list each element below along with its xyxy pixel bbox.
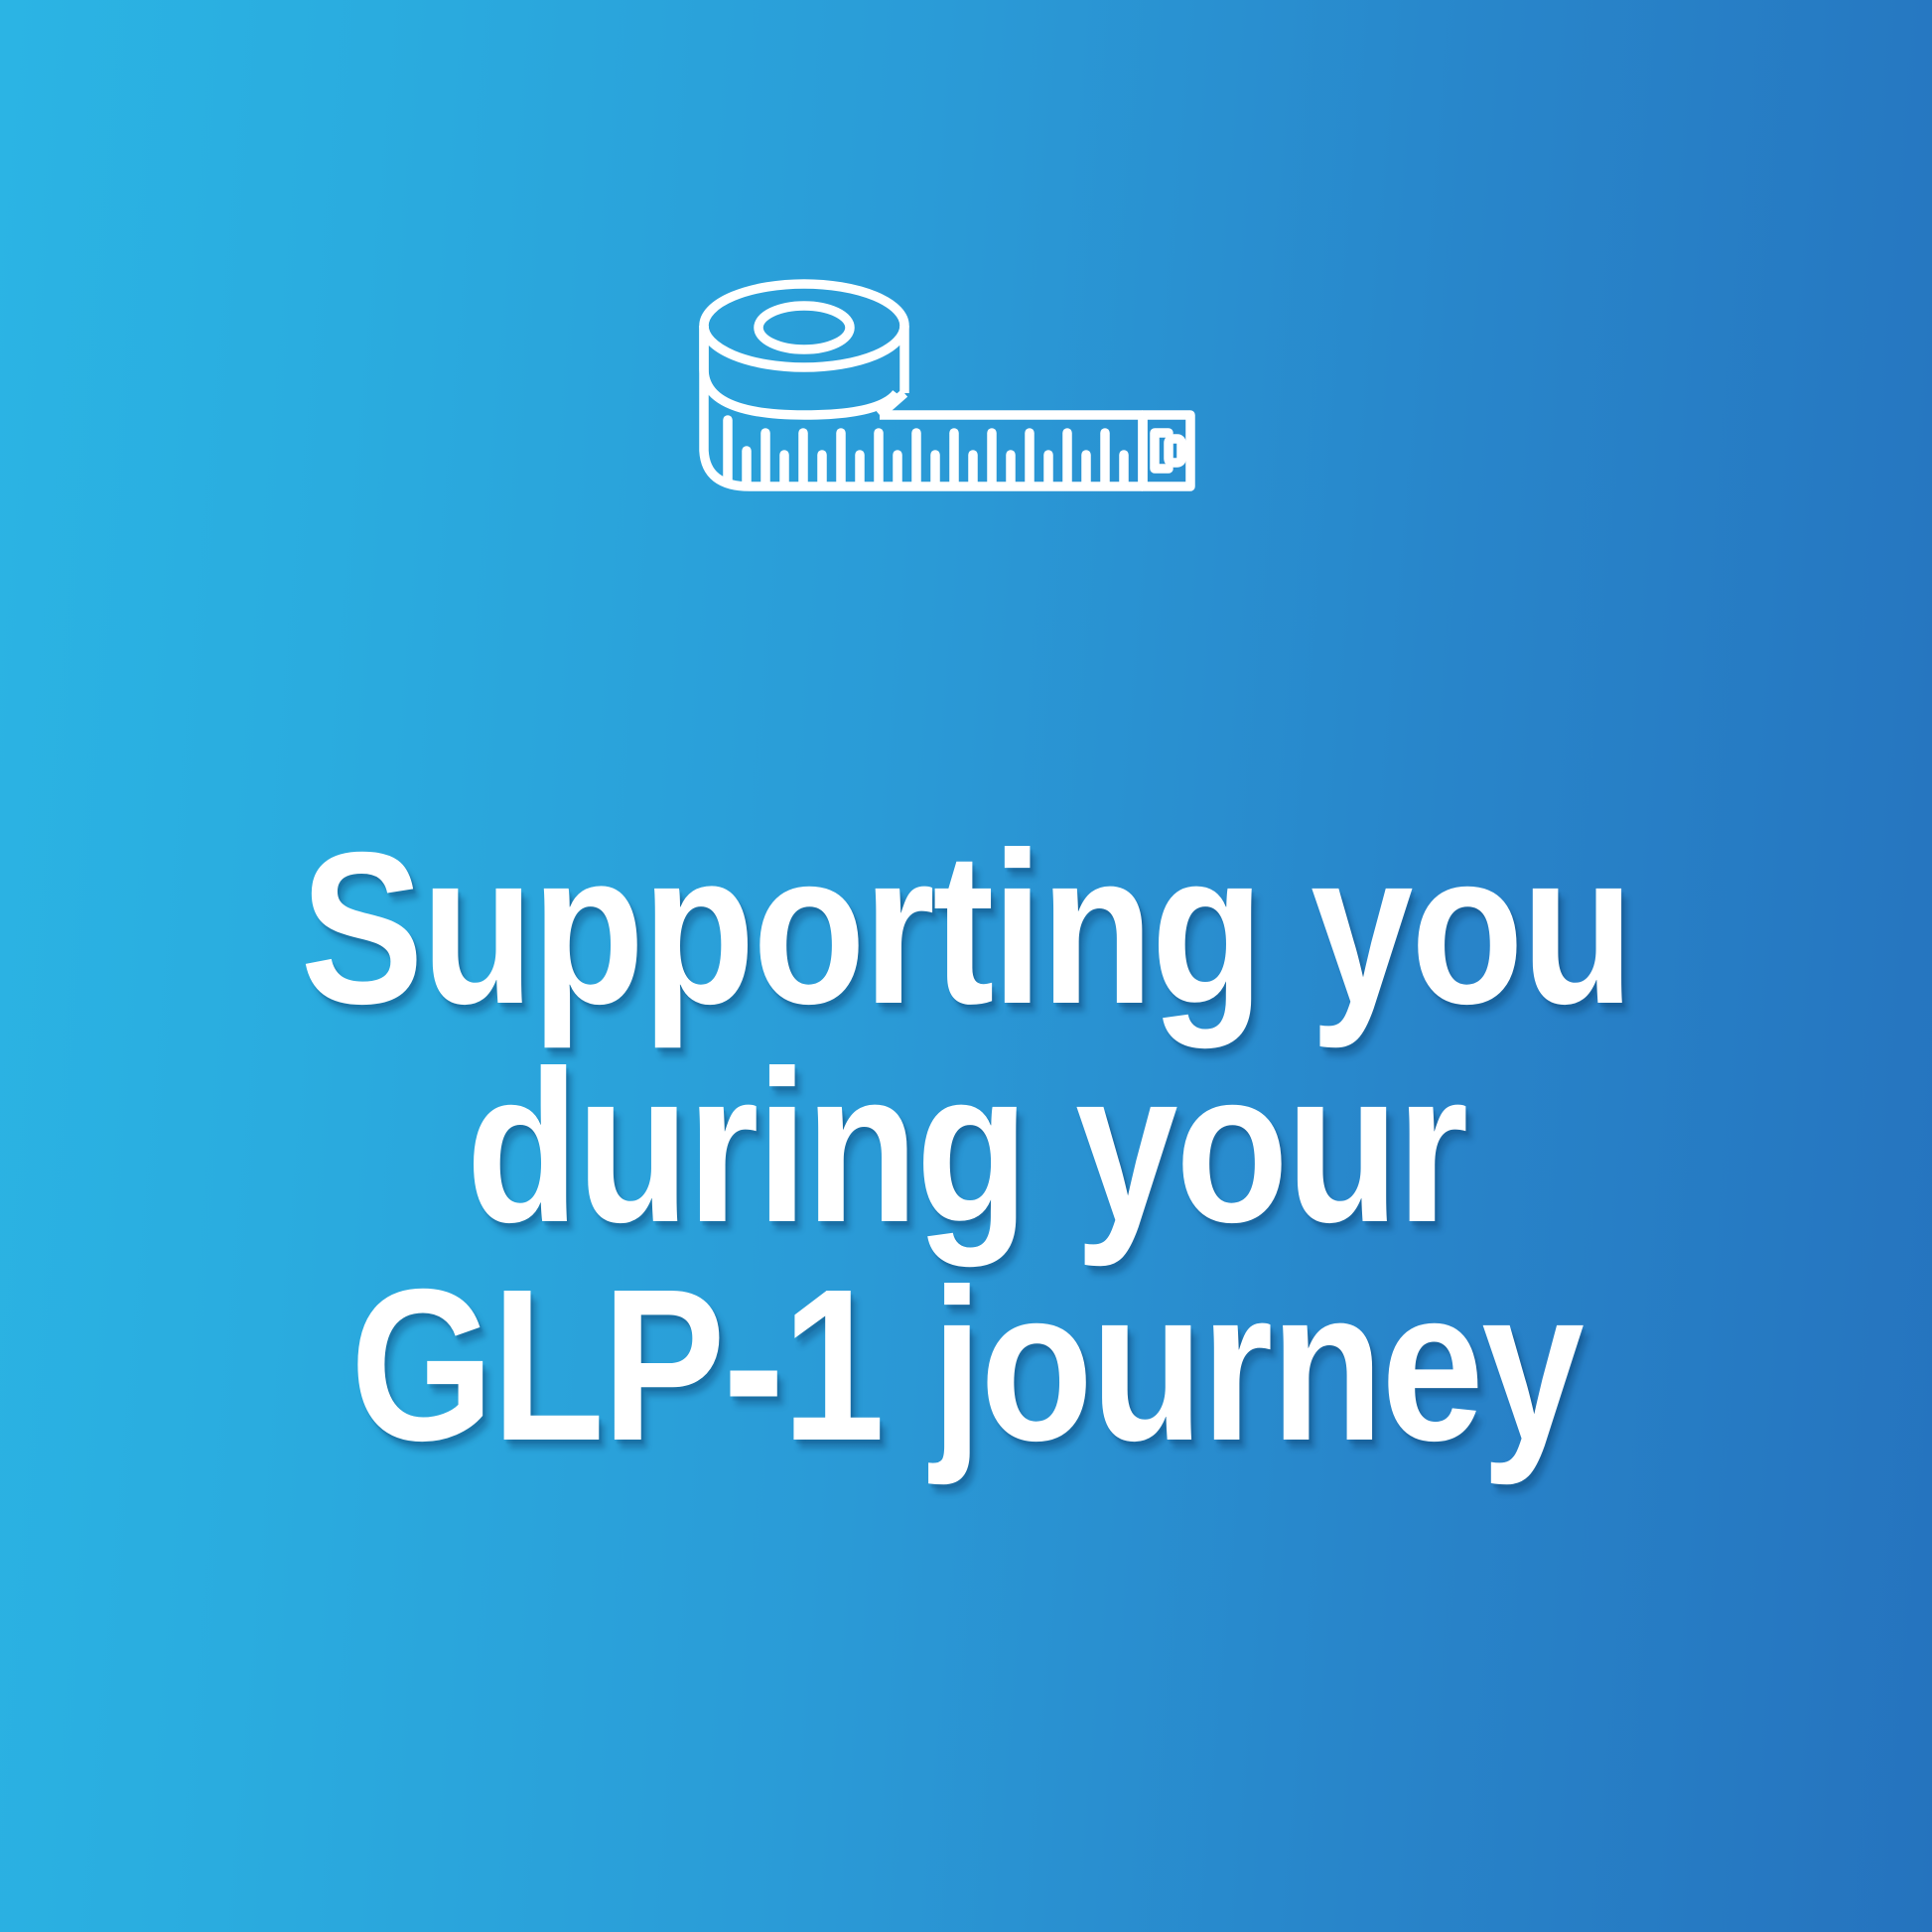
roll-inner-hole-ellipse [759, 306, 850, 349]
measuring-tape-icon [519, 266, 1413, 534]
headline-line-2: during your [216, 1038, 1716, 1257]
poster-canvas: Supporting you during your GLP-1 journey [0, 0, 1932, 1932]
headline-line-3: GLP-1 journey [216, 1257, 1716, 1475]
end-clip-hole [1169, 439, 1181, 463]
page-title: Supporting you during your GLP-1 journey [0, 820, 1932, 1476]
roll-top-ellipse [704, 284, 904, 367]
icon-container [0, 266, 1932, 534]
headline-line-1: Supporting you [216, 820, 1716, 1038]
tick-marks [728, 420, 1124, 483]
